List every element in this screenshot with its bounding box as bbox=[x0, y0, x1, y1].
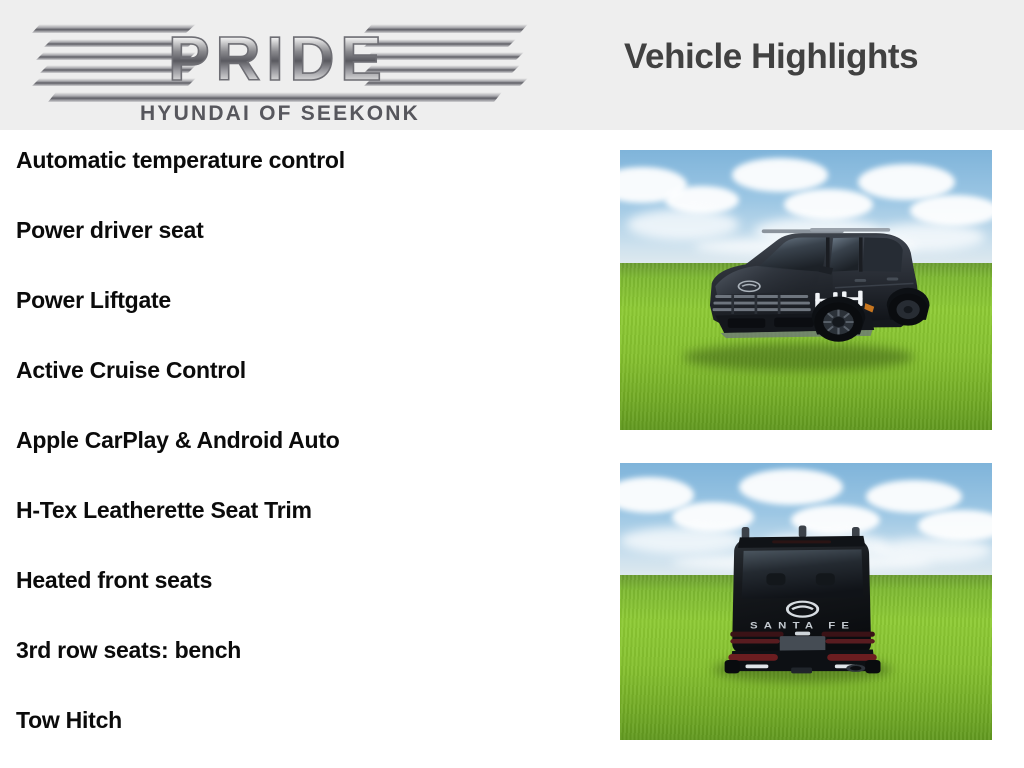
list-item: Power Liftgate bbox=[16, 286, 171, 314]
photo-scene: SANTA FE bbox=[620, 463, 992, 740]
logo-wing-right-icon bbox=[364, 24, 528, 86]
list-item: 3rd row seats: bench bbox=[16, 636, 241, 664]
suv-rear-icon: SANTA FE bbox=[717, 518, 888, 679]
list-item: Automatic temperature control bbox=[16, 146, 345, 174]
photo-scene bbox=[620, 150, 992, 430]
cloud-icon bbox=[732, 158, 829, 192]
cloud-icon bbox=[866, 480, 963, 513]
vehicle-highlights-list: Automatic temperature control Power driv… bbox=[0, 132, 600, 752]
logo-subtitle: HYUNDAI OF SEEKONK bbox=[140, 102, 420, 124]
dealer-logo: PRIDE HYUNDAI OF SEEKONK bbox=[0, 6, 560, 124]
list-item: Active Cruise Control bbox=[16, 356, 246, 384]
vehicle-badge-text: SANTA FE bbox=[750, 622, 855, 632]
cloud-icon bbox=[739, 469, 843, 505]
suv-front-three-quarter-icon bbox=[676, 209, 944, 366]
list-item: Tow Hitch bbox=[16, 706, 122, 734]
list-item: H-Tex Leatherette Seat Trim bbox=[16, 496, 312, 524]
page-title: Vehicle Highlights bbox=[624, 32, 1004, 82]
cloud-icon bbox=[918, 510, 992, 540]
list-item: Power driver seat bbox=[16, 216, 204, 244]
list-item: Heated front seats bbox=[16, 566, 212, 594]
list-item: Apple CarPlay & Android Auto bbox=[16, 426, 340, 454]
logo-brand-word: PRIDE bbox=[168, 25, 387, 94]
vehicle-photo-rear[interactable]: SANTA FE bbox=[620, 463, 992, 740]
vehicle-photo-front-three-quarter[interactable] bbox=[620, 150, 992, 430]
